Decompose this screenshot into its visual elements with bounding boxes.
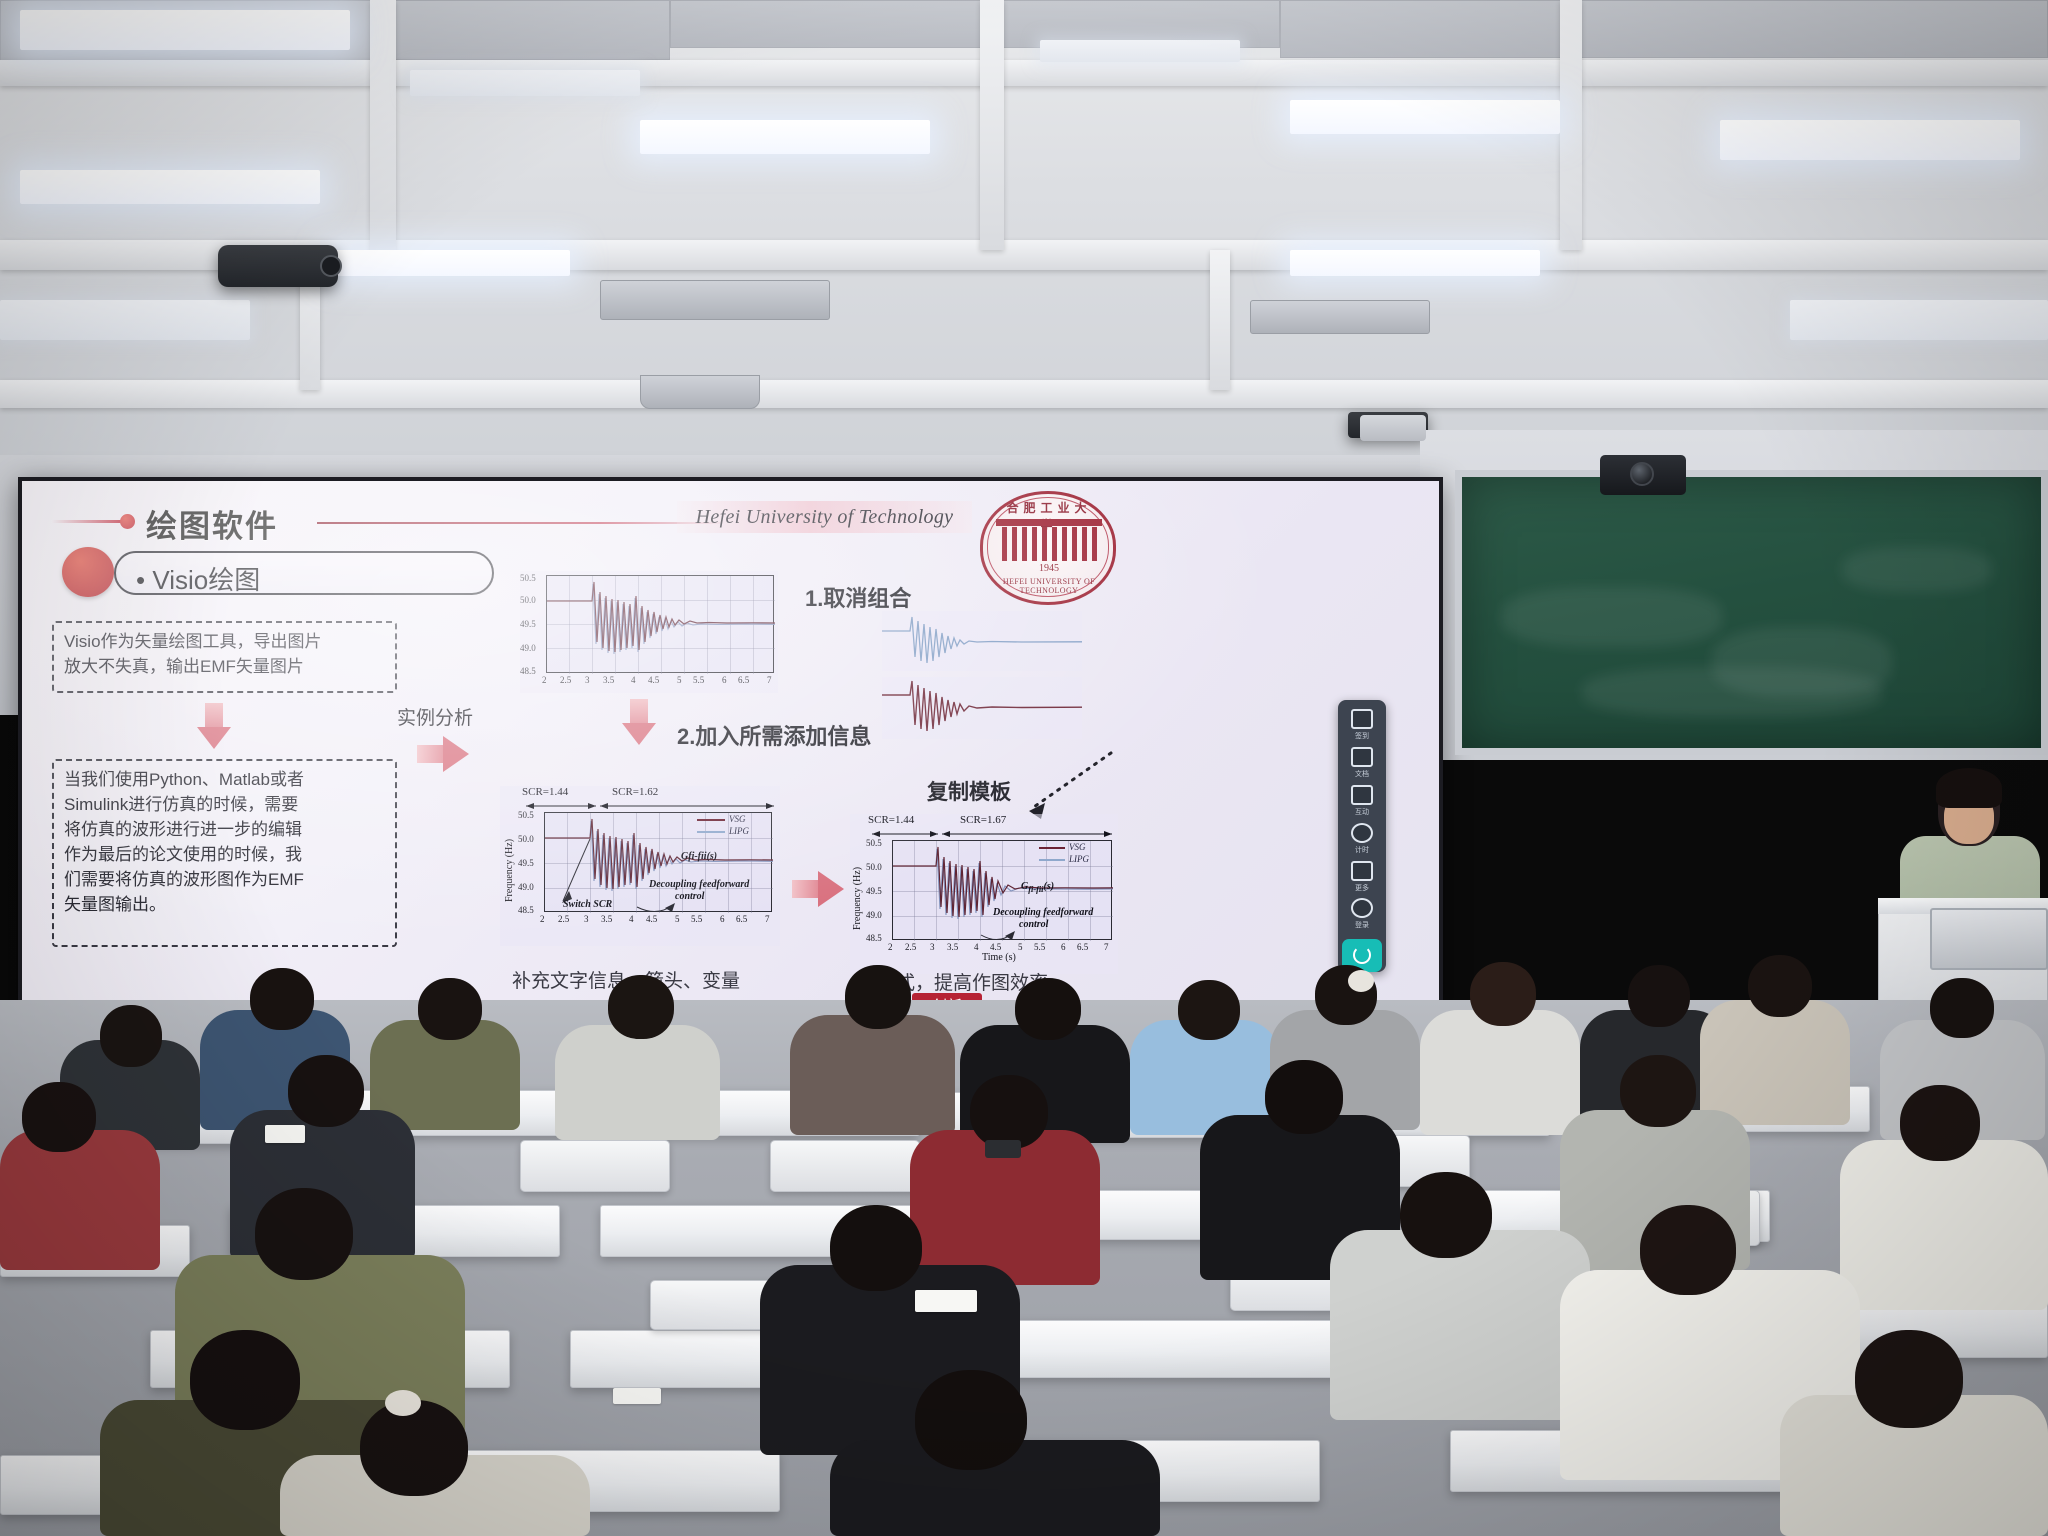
toolbar-item-label: 签到 [1355, 731, 1369, 741]
ceiling-light [1720, 120, 2020, 160]
slide-title: 绘图软件 [146, 501, 278, 546]
ceiling-beam [1560, 0, 1582, 250]
seal-top-text: 合肥工业大学 [1002, 499, 1096, 521]
right-arrow-icon-2 [792, 871, 844, 907]
ceiling-light [20, 170, 320, 204]
toolbar-item-timer[interactable]: 计时 [1342, 821, 1382, 856]
wall-speaker [1360, 415, 1426, 441]
ceiling [0, 0, 2048, 470]
note-box-2-line-6: 矢量图输出。 [64, 892, 385, 917]
flow-label: 实例分析 [397, 703, 473, 730]
toolbar-item-label: 更多 [1355, 883, 1369, 893]
toolbar-item-document[interactable]: 文档 [1342, 746, 1382, 781]
note-box-2-line-5: 们需要将仿真的波形图作为EMF [64, 867, 385, 892]
document-icon [1351, 747, 1373, 767]
note-box-1-line-2: 放大不失真，输出EMF矢量图片 [64, 654, 385, 679]
ceiling-beam [370, 0, 396, 260]
toolbar-item-signin[interactable]: 签到 [1342, 708, 1382, 743]
toolbar-item-label: 计时 [1355, 845, 1369, 855]
ceiling-light [330, 250, 570, 276]
ceiling-beam [0, 60, 2048, 86]
note-box-1-line-1: Visio作为矢量绘图工具，导出图片 [64, 629, 385, 654]
chart-annotated: SCR=1.44 SCR=1.62 Frequency (Hz) 50.5 50… [500, 786, 780, 946]
title-dot-icon [120, 514, 135, 529]
ceiling-light [1790, 300, 2048, 340]
presenter-hair [1936, 768, 2002, 808]
lectern-monitor [1930, 908, 2048, 970]
toolbar-item-label: 互动 [1355, 807, 1369, 817]
down-arrow-icon [197, 703, 231, 749]
chart-template-copy: SCR=1.44 SCR=1.67 Frequency (Hz) 50.5 50… [850, 814, 1118, 974]
down-arrow-icon-2 [622, 699, 656, 745]
step-label-1: 1.取消组合 [805, 581, 911, 613]
step-label-2: 2.加入所需添加信息 [677, 719, 871, 751]
checkbox-icon [1351, 709, 1373, 729]
toolbar-item-login[interactable]: 登录 [1342, 897, 1382, 932]
camera-lens-icon [1630, 462, 1654, 486]
note-box-2-line-2: Simulink进行仿真的时候，需要 [64, 792, 385, 817]
note-box-2-line-4: 作为最后的论文使用的时候，我 [64, 842, 385, 867]
note-box-2-line-1: 当我们使用Python、Matlab或者 [64, 767, 385, 792]
title-underline [317, 522, 722, 524]
chair [520, 1140, 670, 1192]
presentation-slide: 绘图软件 Hefei University of Technology 合肥工业… [22, 481, 1439, 1011]
ceiling-light [1290, 250, 1540, 276]
section-bullet-icon [62, 547, 114, 597]
seal-year: 1945 [974, 563, 1124, 574]
note-box-1: Visio作为矢量绘图工具，导出图片 放大不失真，输出EMF矢量图片 [52, 621, 397, 693]
paper-on-desk [915, 1290, 977, 1312]
section-heading-text: • Visio绘图 [136, 560, 260, 597]
camera-icon [1351, 785, 1373, 805]
toolbar-item-more[interactable]: 更多 [1342, 859, 1382, 894]
lecture-hall-photo: 绘图软件 Hefei University of Technology 合肥工业… [0, 0, 2048, 1536]
note-box-2: 当我们使用Python、Matlab或者 Simulink进行仿真的时候，需要 … [52, 759, 397, 947]
title-accent-line [52, 520, 124, 523]
minus-circle-icon [1351, 823, 1373, 843]
chair [770, 1140, 920, 1192]
trophy-icon [1351, 898, 1373, 918]
step-label-3: 复制模板 [927, 776, 1011, 806]
ceiling-beam [980, 0, 1004, 250]
phone-on-desk [985, 1140, 1021, 1158]
ceiling-beam [1210, 250, 1230, 390]
seal-building [1000, 521, 1098, 561]
seal-bottom-text: HEFEI UNIVERSITY OF TECHNOLOGY [974, 577, 1124, 595]
ceiling-light [0, 300, 250, 340]
toolbar-item-label: 文档 [1355, 769, 1369, 779]
ceiling-panel [380, 0, 670, 60]
chart-ungrouped-lower [882, 677, 1082, 739]
ceiling-duct [600, 280, 830, 320]
desk [1000, 1320, 1340, 1378]
ceiling-duct [1250, 300, 1430, 334]
ceiling-light [410, 70, 640, 96]
classroom-toolbar[interactable]: 签到 文档 互动 计时 更多 登录 [1338, 700, 1386, 972]
toolbar-item-interact[interactable]: 互动 [1342, 784, 1382, 819]
grid-apps-icon [1351, 861, 1373, 881]
ceiling-light [1040, 40, 1240, 62]
ceiling-panel [1280, 0, 2048, 58]
projector-lens-icon [320, 255, 342, 277]
note-box-2-line-3: 将仿真的波形进行进一步的编辑 [64, 817, 385, 842]
org-banner: Hefei University of Technology [677, 501, 972, 533]
paper-on-desk [265, 1125, 305, 1143]
ceiling-light [640, 120, 930, 154]
university-seal-icon: 合肥工业大学 1945 HEFEI UNIVERSITY OF TECHNOLO… [974, 489, 1124, 607]
paper-on-desk [613, 1388, 661, 1404]
ceiling-duct [640, 375, 760, 409]
ceiling-light [1290, 100, 1560, 134]
ceiling-grid [0, 0, 2048, 470]
refresh-icon [1353, 946, 1371, 964]
chalkboard [1455, 470, 2048, 755]
toolbar-item-label: 登录 [1355, 920, 1369, 930]
chart-raw-waveform: 50.5 50.0 49.5 49.0 48.5 [520, 571, 778, 693]
right-arrow-icon-1 [417, 736, 469, 772]
chart-ungrouped-upper [882, 611, 1082, 671]
section-heading-pill: • Visio绘图 [114, 551, 494, 595]
projection-screen: 绘图软件 Hefei University of Technology 合肥工业… [18, 477, 1443, 1017]
ceiling-light [20, 10, 350, 50]
org-banner-text: Hefei University of Technology [696, 506, 954, 529]
